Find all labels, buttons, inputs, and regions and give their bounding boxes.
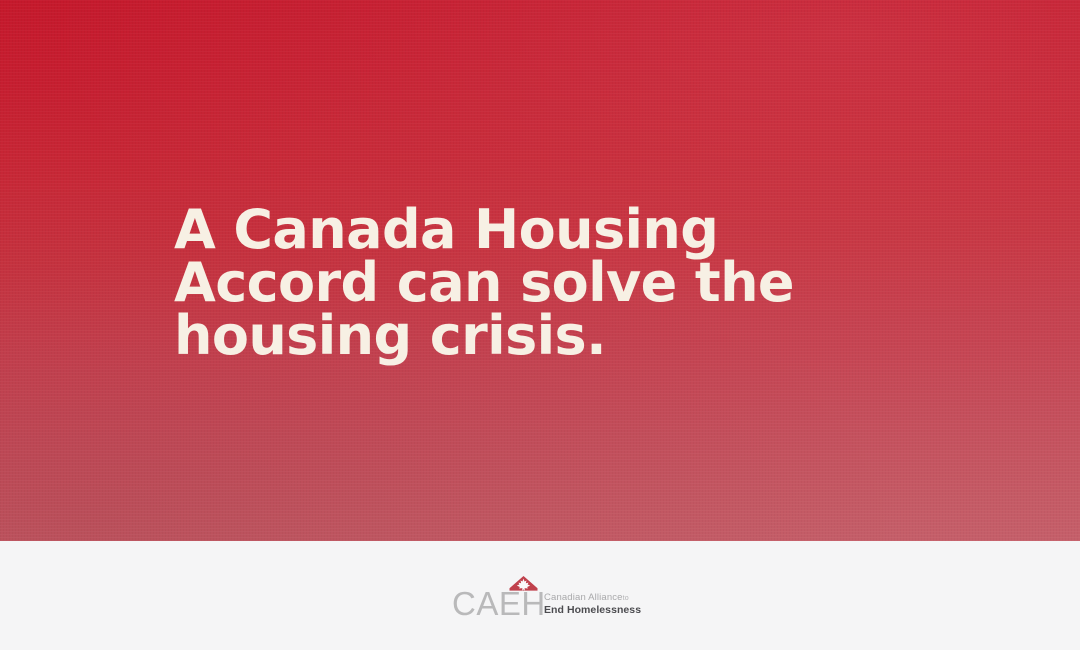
page-title: A Canada Housing Accord can solve the ho… <box>174 203 854 362</box>
caeh-tagline-line-1-text: Canadian Alliance <box>544 592 623 603</box>
caeh-logo: CAEH Canadian Allianceto End Homelessnes… <box>452 575 644 623</box>
hero-banner: A Canada Housing Accord can solve the ho… <box>0 0 1080 541</box>
caeh-tagline-superscript: to <box>623 595 629 602</box>
caeh-tagline-line-2: End Homelessness <box>544 604 644 616</box>
caeh-wordmark: CAEH <box>452 587 546 621</box>
slide-footer: CAEH Canadian Allianceto End Homelessnes… <box>0 541 1080 650</box>
presentation-slide: A Canada Housing Accord can solve the ho… <box>0 0 1080 650</box>
caeh-tagline-line-1: Canadian Allianceto <box>544 592 644 604</box>
caeh-tagline: Canadian Allianceto End Homelessness <box>544 592 644 616</box>
